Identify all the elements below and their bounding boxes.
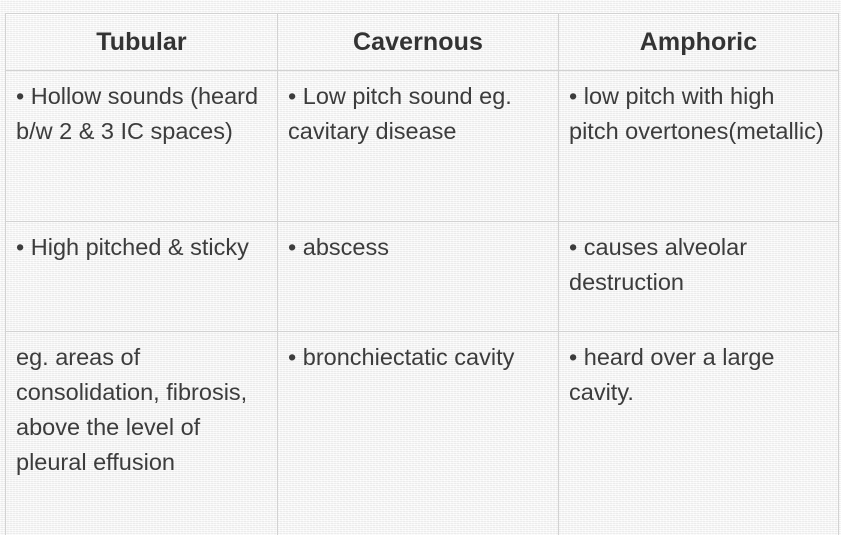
cell-text: • High pitched & sticky bbox=[16, 230, 267, 265]
column-header-tubular: Tubular bbox=[6, 14, 278, 71]
cell-text: • heard over a large cavity. bbox=[569, 340, 828, 410]
cell-text: • low pitch with high pitch overtones(me… bbox=[569, 79, 828, 149]
cell-text: • bronchiectatic cavity bbox=[288, 340, 548, 375]
cell-cavernous-1: • Low pitch sound eg. cavitary disease bbox=[278, 71, 559, 222]
table-header: Tubular Cavernous Amphoric bbox=[6, 14, 839, 71]
cell-cavernous-3: • bronchiectatic cavity bbox=[278, 332, 559, 535]
cell-text: • Low pitch sound eg. cavitary disease bbox=[288, 79, 548, 149]
cell-tubular-2: • High pitched & sticky bbox=[6, 222, 278, 332]
cell-tubular-3: eg. areas of consolidation, fibrosis, ab… bbox=[6, 332, 278, 535]
cell-tubular-1: • Hollow sounds (heard b/w 2 & 3 IC spac… bbox=[6, 71, 278, 222]
table-row-3: eg. areas of consolidation, fibrosis, ab… bbox=[6, 332, 839, 535]
column-header-amphoric: Amphoric bbox=[559, 14, 839, 71]
comparison-table: Tubular Cavernous Amphoric • Hollow soun… bbox=[5, 13, 839, 535]
table-row-1: • Hollow sounds (heard b/w 2 & 3 IC spac… bbox=[6, 71, 839, 222]
table-header-row: Tubular Cavernous Amphoric bbox=[6, 14, 839, 71]
column-header-cavernous: Cavernous bbox=[278, 14, 559, 71]
cell-text: eg. areas of consolidation, fibrosis, ab… bbox=[16, 340, 267, 480]
cell-text: • Hollow sounds (heard b/w 2 & 3 IC spac… bbox=[16, 79, 267, 149]
cell-amphoric-2: • causes alveolar destruction bbox=[559, 222, 839, 332]
page-canvas: Tubular Cavernous Amphoric • Hollow soun… bbox=[0, 0, 841, 535]
cell-text: • causes alveolar destruction bbox=[569, 230, 828, 300]
cell-text: • abscess bbox=[288, 230, 548, 265]
table-row-2: • High pitched & sticky • abscess • caus… bbox=[6, 222, 839, 332]
cell-amphoric-1: • low pitch with high pitch overtones(me… bbox=[559, 71, 839, 222]
cell-cavernous-2: • abscess bbox=[278, 222, 559, 332]
table-body: • Hollow sounds (heard b/w 2 & 3 IC spac… bbox=[6, 71, 839, 535]
cell-amphoric-3: • heard over a large cavity. bbox=[559, 332, 839, 535]
